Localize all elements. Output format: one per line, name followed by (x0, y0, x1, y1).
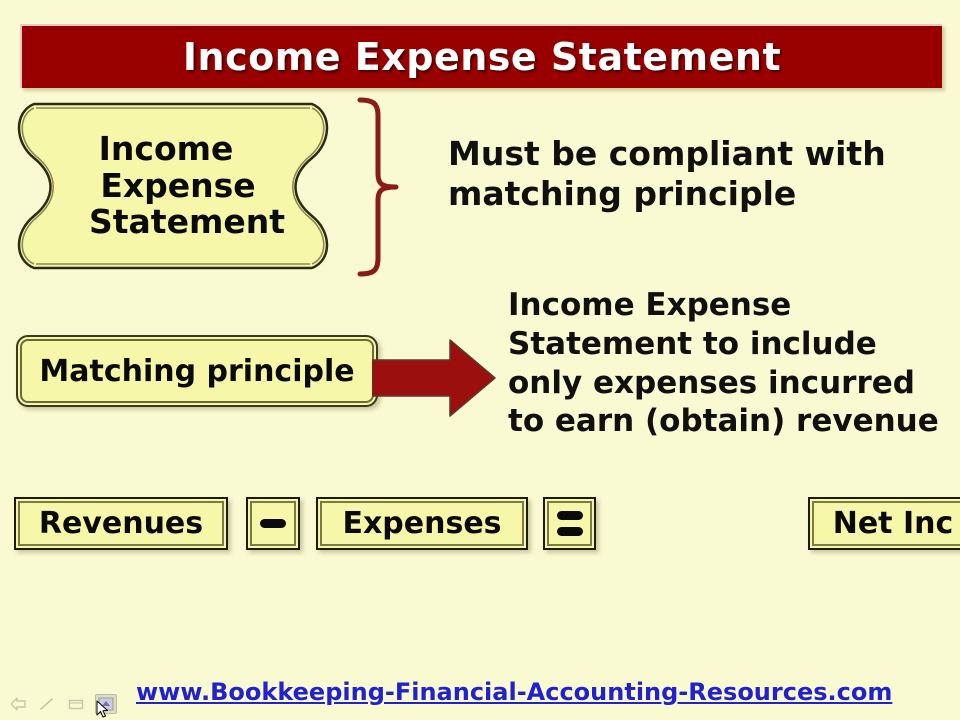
wave-shape (12, 98, 362, 274)
right-curly-brace-icon (352, 96, 424, 278)
matching-principle-box: Matching principle (16, 335, 378, 407)
slide-title-banner: Income Expense Statement (20, 24, 942, 88)
compliance-line-2: matching principle (448, 174, 948, 214)
equals-bar-top (557, 511, 583, 520)
compliance-line-1: Must be compliant with (448, 134, 948, 174)
minus-icon (260, 519, 286, 528)
detail-line-1: Income Expense (508, 286, 960, 325)
equation-label-net-income: Net Inc (833, 506, 954, 541)
equation-label-revenues: Revenues (39, 506, 203, 541)
equation-box-expenses: Expenses (316, 497, 528, 550)
equation-label-expenses: Expenses (342, 506, 501, 541)
presentation-slide: Income Expense Statement Income Expense … (0, 0, 960, 720)
matching-principle-label: Matching principle (39, 354, 354, 389)
right-block-arrow-icon (372, 337, 497, 419)
equation-box-minus (246, 497, 300, 550)
previous-arrow-icon[interactable] (8, 695, 28, 713)
detail-line-3: only expenses incurred (508, 364, 960, 403)
equals-icon (557, 511, 583, 536)
pen-icon[interactable] (37, 695, 57, 713)
equation-box-net-income: Net Inc (808, 497, 960, 550)
footer-url-link[interactable]: www.Bookkeeping-Financial-Accounting-Res… (136, 678, 892, 706)
mouse-cursor-icon (96, 700, 109, 719)
page-title: Income Expense Statement (183, 35, 781, 79)
detail-line-2: Statement to include (508, 325, 960, 364)
equation-box-revenues: Revenues (14, 497, 228, 550)
detail-text: Income Expense Statement to include only… (508, 286, 960, 441)
equals-bar-bottom (557, 527, 583, 536)
slide-icon[interactable] (66, 695, 86, 713)
detail-line-4: to earn (obtain) revenue (508, 402, 960, 441)
equation-box-equals (543, 497, 596, 550)
compliance-text: Must be compliant with matching principl… (448, 134, 948, 215)
